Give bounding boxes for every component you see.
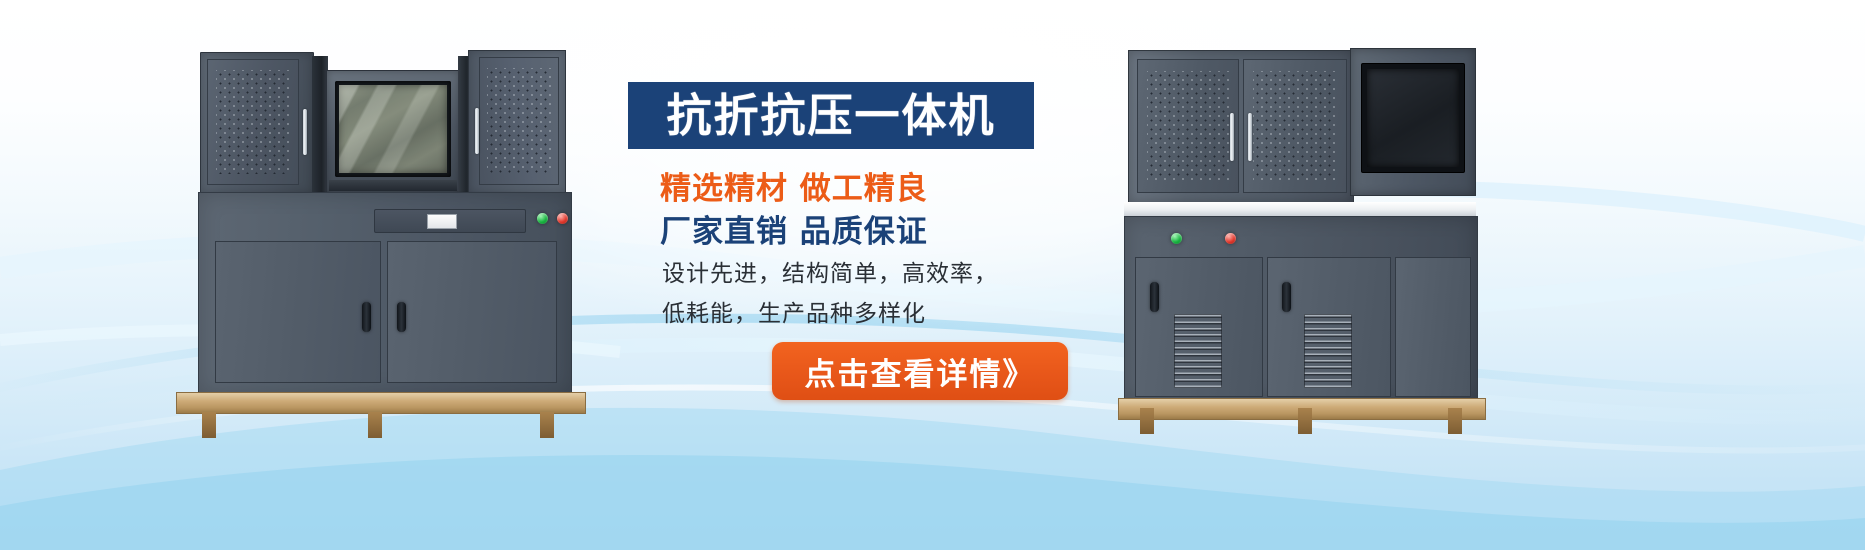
cabinet-door (479, 57, 559, 185)
cabinet-door (207, 59, 299, 185)
monitor-bezel (1361, 63, 1465, 173)
lower-door-right (387, 241, 557, 383)
indicator-lamp-green (537, 213, 548, 224)
perforation-pattern (1253, 71, 1337, 182)
indicator-lamp-red (1225, 233, 1236, 244)
page-title: 抗折抗压一体机 (666, 93, 995, 138)
monitor-screen (339, 85, 447, 173)
pallet-foot (202, 412, 216, 438)
indicator-lamp-green (1171, 233, 1182, 244)
indicator-lamp-red (557, 213, 568, 224)
perforation-pattern (1147, 71, 1229, 182)
view-details-label: 点击查看详情》 (805, 349, 1036, 394)
machine-body (1124, 216, 1478, 400)
left-perforated-cabinet (200, 52, 314, 194)
pallet-foot (1298, 408, 1312, 434)
monitor-screen (1367, 69, 1459, 167)
lower-door-left (215, 241, 381, 383)
door-handle (397, 302, 406, 332)
side-monitor (1350, 48, 1476, 196)
perforation-pattern (487, 68, 551, 174)
monitor-bezel (335, 81, 451, 177)
upper-cabinet (1128, 50, 1354, 204)
lower-door-far-right (1395, 257, 1471, 397)
product-image-right (1118, 38, 1498, 438)
door-handle (1248, 113, 1252, 161)
door-handle (1150, 282, 1159, 312)
door-handle (1230, 113, 1234, 161)
wooden-pallet (176, 392, 586, 414)
louver-vent (1304, 314, 1352, 388)
door-handle (1282, 282, 1291, 312)
pallet-foot (1140, 408, 1154, 434)
product-image-left (168, 42, 588, 432)
perforation-pattern (216, 70, 290, 174)
control-panel (374, 209, 526, 233)
upper-perforated-door-left (1137, 59, 1239, 193)
white-shelf-strip (1124, 202, 1476, 216)
title-banner: 抗折抗压一体机 (628, 82, 1034, 149)
promo-banner: 抗折抗压一体机 精选精材 做工精良 厂家直销 品质保证 设计先进，结构简单，高效… (0, 0, 1865, 550)
upper-perforated-door-right (1243, 59, 1347, 193)
door-handle (475, 108, 479, 154)
description-line-2: 低耗能，生产品种多样化 (662, 294, 926, 328)
view-details-button[interactable]: 点击查看详情》 (772, 342, 1068, 400)
pallet-foot (540, 412, 554, 438)
panel-display (427, 214, 457, 229)
door-handle (303, 109, 307, 155)
slogan-secondary: 厂家直销 品质保证 (660, 206, 1060, 251)
slogan-primary: 精选精材 做工精良 (660, 163, 1060, 208)
description-line-1: 设计先进，结构简单，高效率， (662, 254, 998, 288)
center-monitor (326, 70, 460, 194)
machine-body (198, 192, 572, 394)
door-handle (362, 302, 371, 332)
right-perforated-cabinet (468, 50, 566, 194)
lower-door-left-with-louvers (1135, 257, 1263, 397)
pallet-foot (1448, 408, 1462, 434)
lower-door-right-with-louvers (1267, 257, 1391, 397)
promo-text-block: 抗折抗压一体机 精选精材 做工精良 厂家直销 品质保证 设计先进，结构简单，高效… (620, 70, 1090, 470)
monitor-base (329, 180, 457, 191)
pallet-foot (368, 412, 382, 438)
louver-vent (1174, 314, 1222, 388)
